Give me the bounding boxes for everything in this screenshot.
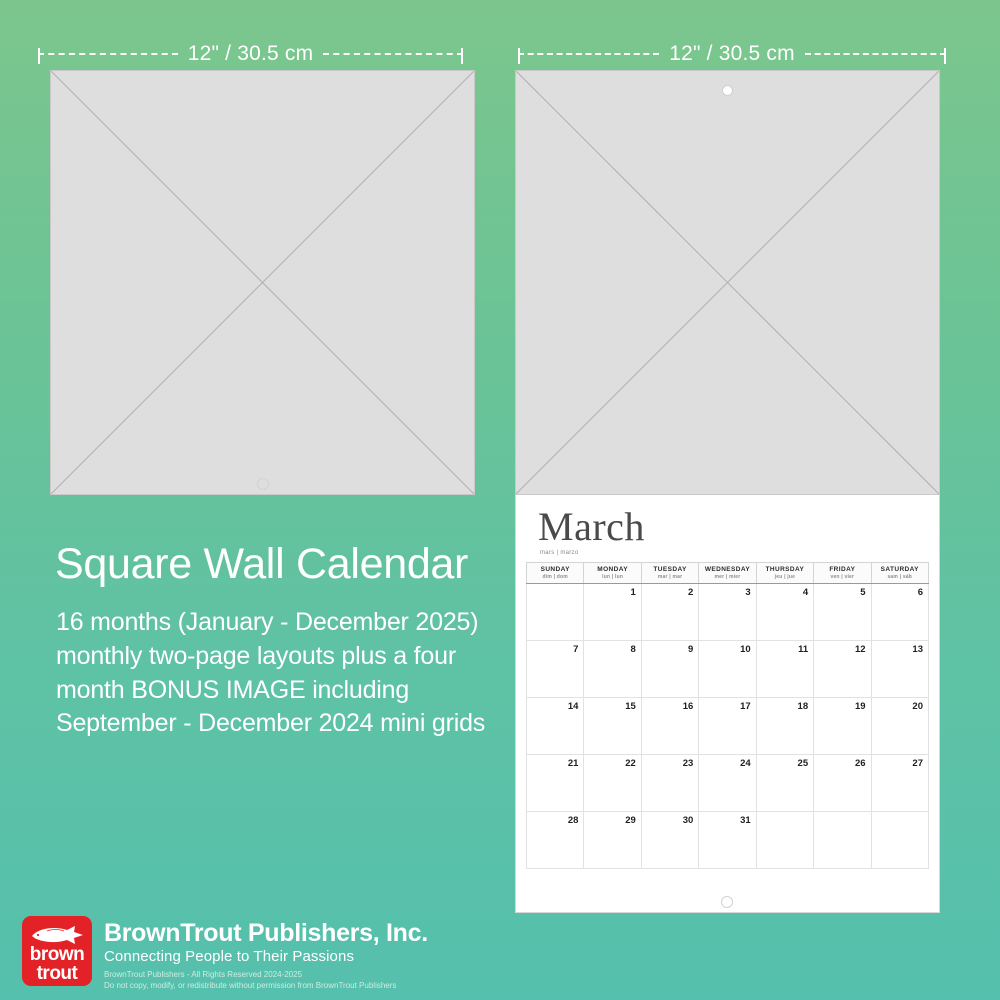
description-line: monthly two-page layouts plus a four: [56, 640, 485, 674]
calendar-day-cell[interactable]: 6: [871, 584, 928, 641]
browntrout-logo[interactable]: brown trout: [22, 916, 92, 986]
calendar-week-row: 28 29 30 31: [527, 812, 929, 869]
day-header-wednesday: WEDNESDAY mer | mier: [699, 563, 756, 584]
calendar-table: SUNDAY dim | dom MONDAY lun | lun TUESDA…: [526, 562, 929, 869]
day-header-name: TUESDAY: [642, 566, 698, 573]
placeholder-cross-icon: [51, 71, 474, 494]
publisher-name: BrownTrout Publishers, Inc.: [104, 920, 428, 948]
calendar-day-cell[interactable]: 2: [641, 584, 698, 641]
calendar-day-cell[interactable]: 30: [641, 812, 698, 869]
day-header-name: MONDAY: [584, 566, 640, 573]
product-spec-graphic: 12" / 30.5 cm 12" / 30.5 cm 12" / 30.5 c…: [0, 0, 1000, 1000]
placeholder-cross-icon: [516, 71, 939, 494]
day-header-tuesday: TUESDAY mar | mar: [641, 563, 698, 584]
calendar-day-cell[interactable]: 18: [756, 698, 813, 755]
day-header-friday: FRIDAY ven | vier: [814, 563, 871, 584]
calendar-day-cell[interactable]: 17: [699, 698, 756, 755]
day-header-name: THURSDAY: [757, 566, 813, 573]
dimension-top-left-label: 12" / 30.5 cm: [188, 42, 314, 66]
dimension-top-right-label: 12" / 30.5 cm: [669, 42, 795, 66]
calendar-week-row: 7 8 9 10 11 12 13: [527, 641, 929, 698]
calendar-week-row: 21 22 23 24 25 26 27: [527, 755, 929, 812]
calendar-day-cell[interactable]: 21: [527, 755, 584, 812]
description-line: 16 months (January - December 2025): [56, 606, 485, 640]
calendar-day-cell[interactable]: 28: [527, 812, 584, 869]
calendar-day-cell[interactable]: 10: [699, 641, 756, 698]
calendar-day-cell[interactable]: 12: [814, 641, 871, 698]
calendar-day-cell[interactable]: 14: [527, 698, 584, 755]
day-header-saturday: SATURDAY sam | sáb: [871, 563, 928, 584]
day-header-name: SATURDAY: [872, 566, 928, 573]
calendar-day-cell[interactable]: 26: [814, 755, 871, 812]
calendar-header-row: SUNDAY dim | dom MONDAY lun | lun TUESDA…: [527, 563, 929, 584]
footer: brown trout BrownTrout Publishers, Inc. …: [22, 916, 428, 992]
calendar-day-cell[interactable]: 27: [871, 755, 928, 812]
day-header-sunday: SUNDAY dim | dom: [527, 563, 584, 584]
dimension-dash-right: [805, 53, 946, 55]
hole-punch-right-panel-top: [722, 85, 733, 96]
calendar-day-cell[interactable]: 25: [756, 755, 813, 812]
trout-fish-icon: [27, 924, 87, 946]
dimension-top-left: 12" / 30.5 cm: [38, 42, 463, 66]
calendar-day-cell[interactable]: 29: [584, 812, 641, 869]
calendar-image-panel-left: [50, 70, 475, 495]
day-header-sub: sam | sáb: [872, 574, 928, 580]
logo-word-trout: trout: [22, 963, 92, 985]
calendar-day-cell[interactable]: [814, 812, 871, 869]
calendar-day-cell[interactable]: 22: [584, 755, 641, 812]
description-line: September - December 2024 mini grids: [56, 707, 485, 741]
calendar-month-subtitle: mars | marzo: [516, 547, 939, 556]
description-line: month BONUS IMAGE including: [56, 674, 485, 708]
footer-text-block: BrownTrout Publishers, Inc. Connecting P…: [104, 916, 428, 992]
calendar-grid-page: March mars | marzo SUNDAY dim | dom MOND…: [515, 495, 940, 913]
calendar-month-title: March: [516, 495, 939, 547]
calendar-day-cell[interactable]: 20: [871, 698, 928, 755]
calendar-day-cell[interactable]: 7: [527, 641, 584, 698]
dimension-top-right: 12" / 30.5 cm: [518, 42, 946, 66]
calendar-day-cell[interactable]: 5: [814, 584, 871, 641]
calendar-day-cell[interactable]: 13: [871, 641, 928, 698]
calendar-week-row: 14 15 16 17 18 19 20: [527, 698, 929, 755]
day-header-sub: jeu | jue: [757, 574, 813, 580]
day-header-thursday: THURSDAY jeu | jue: [756, 563, 813, 584]
dimension-dash-right: [323, 53, 463, 55]
legal-line: BrownTrout Publishers - All Rights Reser…: [104, 970, 428, 981]
day-header-sub: dim | dom: [527, 574, 583, 580]
calendar-day-cell[interactable]: 31: [699, 812, 756, 869]
product-headline: Square Wall Calendar: [55, 540, 468, 589]
product-description: 16 months (January - December 2025) mont…: [56, 606, 485, 741]
calendar-day-cell[interactable]: [756, 812, 813, 869]
publisher-tagline: Connecting People to Their Passions: [104, 948, 428, 965]
day-header-sub: lun | lun: [584, 574, 640, 580]
calendar-day-cell[interactable]: [871, 812, 928, 869]
dimension-dash-left: [518, 53, 659, 55]
calendar-day-cell[interactable]: 11: [756, 641, 813, 698]
legal-notice: BrownTrout Publishers - All Rights Reser…: [104, 970, 428, 992]
hole-punch-left-panel: [257, 478, 269, 490]
calendar-day-cell[interactable]: 24: [699, 755, 756, 812]
hole-punch-calendar-bottom: [721, 896, 733, 908]
calendar-week-row: 1 2 3 4 5 6: [527, 584, 929, 641]
calendar-day-cell[interactable]: 15: [584, 698, 641, 755]
legal-line: Do not copy, modify, or redistribute wit…: [104, 981, 428, 992]
day-header-monday: MONDAY lun | lun: [584, 563, 641, 584]
calendar-day-cell[interactable]: 23: [641, 755, 698, 812]
calendar-day-cell[interactable]: 9: [641, 641, 698, 698]
dimension-right-side: 24" / 61 cm: [963, 70, 1000, 913]
calendar-day-cell[interactable]: 19: [814, 698, 871, 755]
calendar-day-cell[interactable]: 16: [641, 698, 698, 755]
calendar-day-cell[interactable]: 8: [584, 641, 641, 698]
day-header-name: WEDNESDAY: [699, 566, 755, 573]
day-header-sub: mar | mar: [642, 574, 698, 580]
day-header-name: FRIDAY: [814, 566, 870, 573]
calendar-day-cell[interactable]: [527, 584, 584, 641]
calendar-day-cell[interactable]: 4: [756, 584, 813, 641]
calendar-day-cell[interactable]: 1: [584, 584, 641, 641]
dimension-dash-left: [38, 53, 178, 55]
day-header-sub: ven | vier: [814, 574, 870, 580]
day-header-name: SUNDAY: [527, 566, 583, 573]
calendar-day-cell[interactable]: 3: [699, 584, 756, 641]
day-header-sub: mer | mier: [699, 574, 755, 580]
calendar-image-panel-right: [515, 70, 940, 495]
